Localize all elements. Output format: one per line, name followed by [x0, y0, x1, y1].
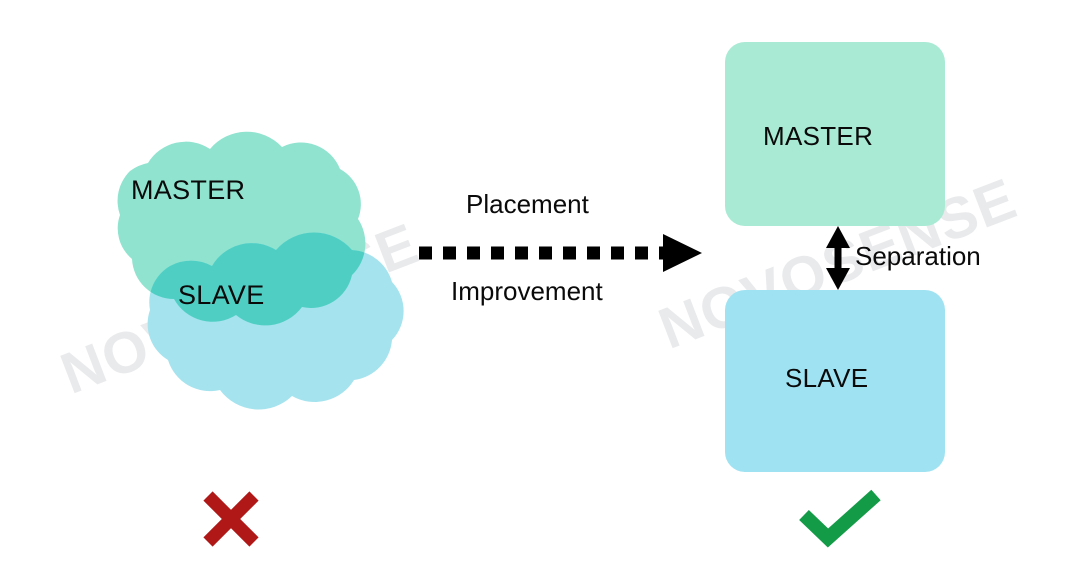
after-group: [725, 42, 945, 538]
separation-arrow-head-down: [826, 268, 850, 290]
dashed-arrow-head: [663, 234, 702, 272]
separation-arrow-head-up: [826, 226, 850, 248]
diagram-canvas: NOVOSENSE NOVOSENSE: [0, 0, 1076, 563]
cloud-slave-label: SLAVE: [178, 280, 265, 311]
transition-label-placement: Placement: [466, 189, 589, 220]
box-slave-label: SLAVE: [785, 363, 868, 394]
transition-label-improvement: Improvement: [451, 276, 603, 307]
cross-icon: [208, 496, 254, 542]
box-master-label: MASTER: [763, 121, 873, 152]
separation-arrow: [826, 226, 850, 290]
separation-label: Separation: [855, 241, 981, 272]
check-icon: [804, 495, 876, 538]
cloud-master-label: MASTER: [131, 175, 245, 206]
transition-arrow-group: [419, 234, 702, 272]
